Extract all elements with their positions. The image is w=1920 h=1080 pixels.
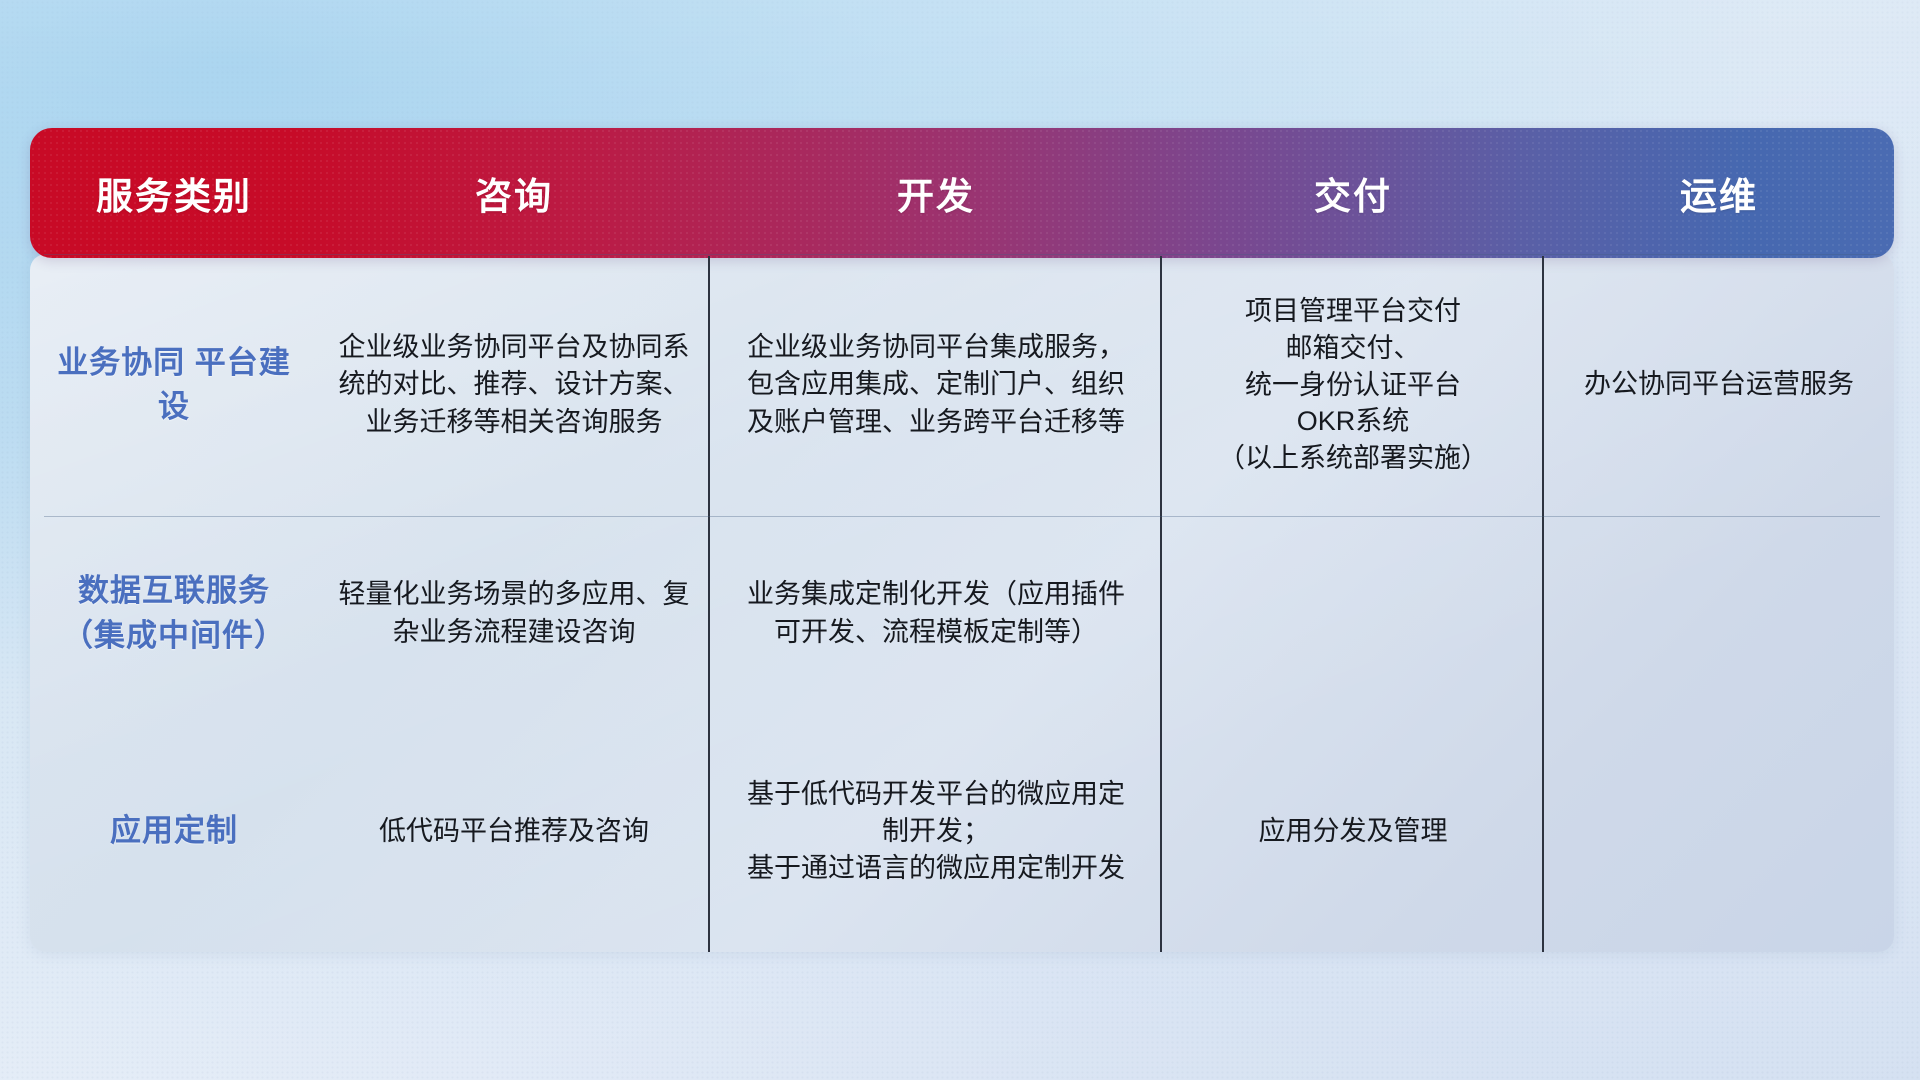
- row-label-text: 应用定制: [110, 809, 238, 853]
- table-row: 应用定制 低代码平台推荐及咨询 基于低代码开发平台的微应用定 制开发； 基于通过…: [30, 711, 1894, 952]
- row-label-cell: 业务协同 平台建设: [30, 254, 318, 516]
- cell-development: 业务集成定制化开发（应用插件 可开发、流程模板定制等）: [710, 516, 1162, 711]
- cell-operations: [1544, 516, 1894, 711]
- cell-delivery: 项目管理平台交付 邮箱交付、 统一身份认证平台 OKR系统 （以上系统部署实施）: [1162, 254, 1544, 516]
- cell-text: 企业级业务协同平台集成服务， 包含应用集成、定制门户、组织 及账户管理、业务跨平…: [747, 329, 1125, 441]
- cell-development: 基于低代码开发平台的微应用定 制开发； 基于通过语言的微应用定制开发: [710, 711, 1162, 952]
- cell-consulting: 企业级业务协同平台及协同系 统的对比、推荐、设计方案、 业务迁移等相关咨询服务: [318, 254, 710, 516]
- table-row: 数据互联服务 （集成中间件） 轻量化业务场景的多应用、复 杂业务流程建设咨询 业…: [30, 516, 1894, 711]
- cell-text: 应用分发及管理: [1259, 813, 1448, 850]
- cell-delivery: [1162, 516, 1544, 711]
- table-rows: 业务协同 平台建设 企业级业务协同平台及协同系 统的对比、推荐、设计方案、 业务…: [30, 254, 1894, 952]
- row-label-text: 业务协同 平台建设: [44, 341, 304, 429]
- row-divider: [44, 516, 1880, 517]
- cell-delivery: 应用分发及管理: [1162, 711, 1544, 952]
- cell-text: 轻量化业务场景的多应用、复 杂业务流程建设咨询: [339, 576, 690, 651]
- cell-text: 办公协同平台运营服务: [1584, 366, 1854, 403]
- column-header-operations: 运维: [1544, 166, 1894, 220]
- cell-text: 低代码平台推荐及咨询: [379, 813, 649, 850]
- cell-operations: 办公协同平台运营服务: [1544, 254, 1894, 516]
- cell-consulting: 低代码平台推荐及咨询: [318, 711, 710, 952]
- row-label-cell: 应用定制: [30, 711, 318, 952]
- service-matrix-table: 服务类别 咨询 开发 交付 运维 业务协同 平台建设 企业级业务协同平台及协同系…: [30, 128, 1894, 952]
- cell-operations: [1544, 711, 1894, 952]
- cell-development: 企业级业务协同平台集成服务， 包含应用集成、定制门户、组织 及账户管理、业务跨平…: [710, 254, 1162, 516]
- column-header-service-category: 服务类别: [30, 166, 318, 220]
- column-header-development: 开发: [710, 166, 1162, 220]
- column-header-consulting: 咨询: [318, 166, 710, 220]
- cell-text: 业务集成定制化开发（应用插件 可开发、流程模板定制等）: [747, 576, 1125, 651]
- cell-text: 项目管理平台交付 邮箱交付、 统一身份认证平台 OKR系统 （以上系统部署实施）: [1218, 293, 1488, 477]
- cell-consulting: 轻量化业务场景的多应用、复 杂业务流程建设咨询: [318, 516, 710, 711]
- cell-text: 企业级业务协同平台及协同系 统的对比、推荐、设计方案、 业务迁移等相关咨询服务: [339, 329, 690, 441]
- row-label-text: 数据互联服务 （集成中间件）: [44, 569, 304, 657]
- cell-text: 基于低代码开发平台的微应用定 制开发； 基于通过语言的微应用定制开发: [747, 776, 1125, 888]
- row-divider: [44, 254, 1880, 255]
- column-header-delivery: 交付: [1162, 166, 1544, 220]
- row-label-cell: 数据互联服务 （集成中间件）: [30, 516, 318, 711]
- table-header-row: 服务类别 咨询 开发 交付 运维: [30, 128, 1894, 258]
- table-row: 业务协同 平台建设 企业级业务协同平台及协同系 统的对比、推荐、设计方案、 业务…: [30, 254, 1894, 516]
